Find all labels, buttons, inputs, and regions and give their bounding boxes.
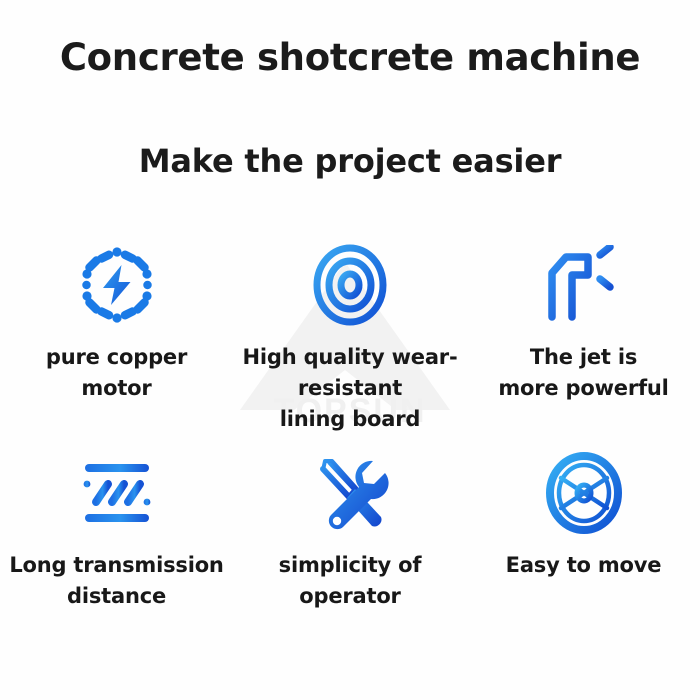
feature-caption-line1: Easy to move bbox=[506, 550, 662, 581]
spray-nozzle-icon bbox=[541, 242, 627, 328]
feature-caption-line2: operator bbox=[279, 581, 422, 612]
poster-headings: Concrete shotcrete machine Make the proj… bbox=[0, 0, 700, 181]
page-title: Concrete shotcrete machine bbox=[0, 36, 700, 80]
feature-caption-line1: The jet is bbox=[498, 342, 668, 373]
feature-caption-line2: motor bbox=[46, 373, 187, 404]
feature-item-pure-copper-motor: pure copper motor bbox=[0, 234, 233, 446]
feature-caption: High quality wear-resistant lining board bbox=[233, 342, 467, 435]
feature-caption-line1: High quality wear-resistant bbox=[233, 342, 467, 404]
feature-item-easy-to-move: Easy to move bbox=[467, 446, 700, 658]
feature-caption-line1: pure copper bbox=[46, 342, 187, 373]
wheel-icon bbox=[541, 450, 627, 536]
feature-caption-line1: simplicity of bbox=[279, 550, 422, 581]
feature-grid: pure copper motor bbox=[0, 234, 700, 658]
concentric-target-icon bbox=[307, 242, 393, 328]
lightning-bolt-in-dashed-circle-icon bbox=[74, 242, 160, 328]
feature-caption: Long transmission distance bbox=[9, 550, 223, 612]
conveyor-lines-icon bbox=[74, 450, 160, 536]
feature-caption: Easy to move bbox=[506, 550, 662, 581]
feature-item-powerful-jet: The jet is more powerful bbox=[467, 234, 700, 446]
feature-caption-line2: more powerful bbox=[498, 373, 668, 404]
feature-caption: simplicity of operator bbox=[279, 550, 422, 612]
feature-item-simple-operation: simplicity of operator bbox=[233, 446, 467, 658]
feature-caption-line2: distance bbox=[9, 581, 223, 612]
feature-caption-line1: Long transmission bbox=[9, 550, 223, 581]
page-subtitle: Make the project easier bbox=[0, 142, 700, 180]
feature-item-long-transmission: Long transmission distance bbox=[0, 446, 233, 658]
wrench-screwdriver-icon bbox=[307, 450, 393, 536]
product-feature-poster: TOPSUN Concrete shotcrete machine Make t… bbox=[0, 0, 700, 700]
feature-caption: pure copper motor bbox=[46, 342, 187, 404]
feature-caption: The jet is more powerful bbox=[498, 342, 668, 404]
feature-caption-line2: lining board bbox=[233, 404, 467, 435]
feature-item-lining-board: High quality wear-resistant lining board bbox=[233, 234, 467, 446]
